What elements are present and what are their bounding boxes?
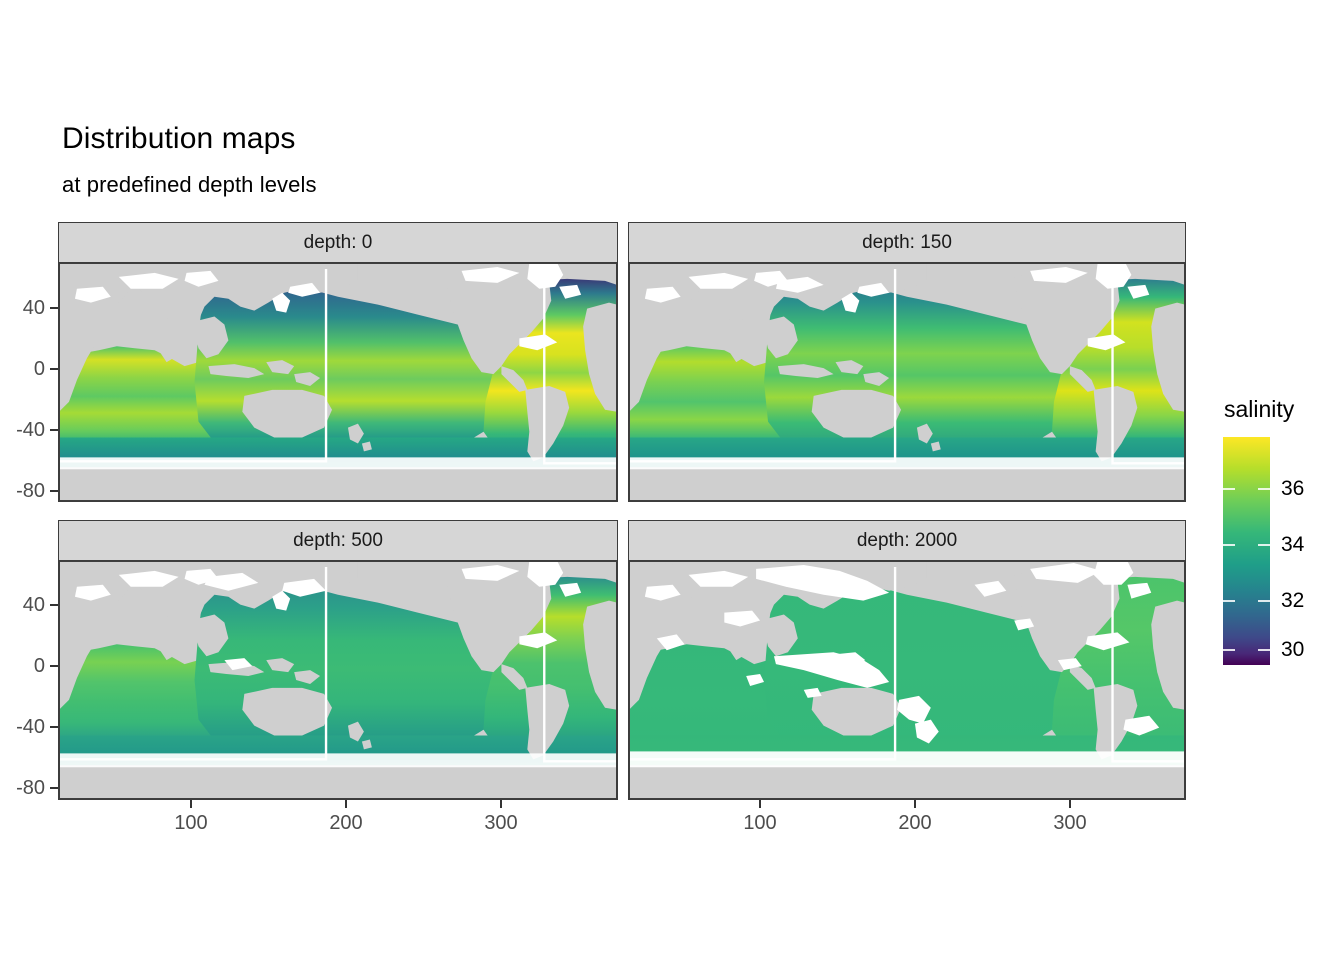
y-tick-label-bot--40: -40 — [0, 716, 45, 739]
facet-strip-depth-150: depth: 150 — [628, 222, 1186, 263]
x-tick-label-300: 300 — [461, 812, 541, 835]
y-tick-label-top-0: 0 — [0, 358, 45, 381]
legend-tick-label-30: 30 — [1281, 638, 1304, 662]
y-tick-mark — [50, 307, 58, 309]
y-tick-label-bot-40: 40 — [0, 594, 45, 617]
map-canvas-depth-150 — [629, 263, 1185, 501]
map-canvas-depth-2000 — [629, 561, 1185, 799]
facet-depth-500: depth: 500 — [58, 520, 618, 800]
y-tick-mark — [50, 368, 58, 370]
x-tick-label-100: 100 — [720, 812, 800, 835]
map-panel-depth-2000[interactable] — [628, 560, 1186, 800]
x-tick-mark — [914, 800, 916, 808]
legend-tick-label-32: 32 — [1281, 589, 1304, 613]
x-tick-mark — [759, 800, 761, 808]
legend-tick-label-36: 36 — [1281, 477, 1304, 501]
facet-strip-depth-2000: depth: 2000 — [628, 520, 1186, 561]
legend-title: salinity — [1224, 396, 1294, 423]
facet-depth-2000: depth: 2000 — [628, 520, 1186, 800]
map-canvas-depth-500 — [59, 561, 617, 799]
y-tick-label-top--80: -80 — [0, 480, 45, 503]
facet-strip-label: depth: 2000 — [857, 530, 957, 552]
facet-strip-depth-500: depth: 500 — [58, 520, 618, 561]
map-canvas-depth-0 — [59, 263, 617, 501]
y-tick-mark — [50, 726, 58, 728]
facet-strip-depth-0: depth: 0 — [58, 222, 618, 263]
legend-tick-mark — [1223, 600, 1235, 602]
y-tick-mark — [50, 429, 58, 431]
x-tick-mark — [345, 800, 347, 808]
y-tick-mark — [50, 490, 58, 492]
x-tick-label-200: 200 — [875, 812, 955, 835]
y-tick-label-top--40: -40 — [0, 419, 45, 442]
legend-tick-mark — [1223, 544, 1235, 546]
facet-strip-label: depth: 150 — [862, 232, 952, 254]
legend-tick-mark — [1223, 649, 1235, 651]
y-tick-mark — [50, 665, 58, 667]
x-tick-label-300: 300 — [1030, 812, 1110, 835]
legend-colorbar-gradient — [1223, 437, 1270, 665]
map-panel-depth-0[interactable] — [58, 262, 618, 502]
legend-tick-mark — [1223, 488, 1235, 490]
map-panel-depth-150[interactable] — [628, 262, 1186, 502]
x-tick-label-100: 100 — [151, 812, 231, 835]
map-panel-depth-500[interactable] — [58, 560, 618, 800]
x-tick-label-200: 200 — [306, 812, 386, 835]
page-subtitle: at predefined depth levels — [62, 172, 317, 198]
legend-tick-mark — [1258, 649, 1270, 651]
legend-tick-mark — [1258, 544, 1270, 546]
legend-tick-label-34: 34 — [1281, 533, 1304, 557]
facet-depth-150: depth: 150 — [628, 222, 1186, 502]
x-tick-mark — [190, 800, 192, 808]
legend-tick-mark — [1258, 600, 1270, 602]
page-title: Distribution maps — [62, 122, 295, 156]
x-tick-mark — [500, 800, 502, 808]
legend-tick-mark — [1258, 488, 1270, 490]
facet-depth-0: depth: 0 — [58, 222, 618, 502]
legend-colorbar[interactable] — [1223, 437, 1270, 665]
y-tick-label-bot--80: -80 — [0, 777, 45, 800]
y-tick-label-bot-0: 0 — [0, 655, 45, 678]
y-tick-mark — [50, 604, 58, 606]
facet-strip-label: depth: 0 — [304, 232, 373, 254]
facet-strip-label: depth: 500 — [293, 530, 383, 552]
x-tick-mark — [1069, 800, 1071, 808]
y-tick-label-top-40: 40 — [0, 297, 45, 320]
y-tick-mark — [50, 787, 58, 789]
